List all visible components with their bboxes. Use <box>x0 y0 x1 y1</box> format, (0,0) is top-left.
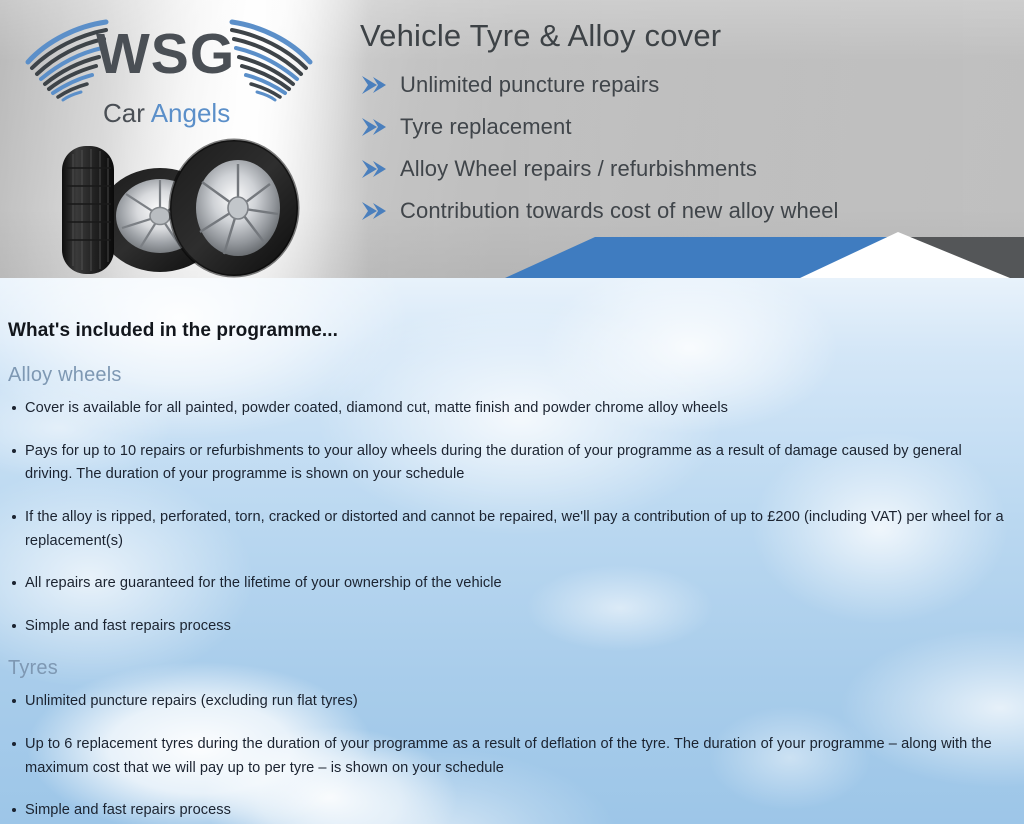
logo-wordmark: WSG <box>96 26 235 83</box>
logo-subtitle: Car Angels <box>103 100 230 126</box>
list-item: Cover is available for all painted, powd… <box>8 397 1010 421</box>
feature-item: Tyre replacement <box>360 108 839 145</box>
main-content: What's included in the programme... Allo… <box>0 278 1024 824</box>
list-item: If the alloy is ripped, perforated, torn… <box>8 506 1010 553</box>
section-title: Alloy wheels <box>8 364 1010 387</box>
feature-label: Alloy Wheel repairs / refurbishments <box>400 156 757 182</box>
chevron-right-icon <box>360 158 390 180</box>
feature-label: Tyre replacement <box>400 114 572 140</box>
list-item: Simple and fast repairs process <box>8 615 1010 639</box>
chevron-right-icon <box>360 116 390 138</box>
logo-subtitle-angels: Angels <box>151 98 231 128</box>
section-tyres: Tyres Unlimited puncture repairs (exclud… <box>8 657 1010 823</box>
feature-item: Alloy Wheel repairs / refurbishments <box>360 150 839 187</box>
feature-item: Unlimited puncture repairs <box>360 66 839 103</box>
page-title: Vehicle Tyre & Alloy cover <box>360 18 839 54</box>
list-item: Pays for up to 10 repairs or refurbishme… <box>8 440 1010 487</box>
header-copy: Vehicle Tyre & Alloy cover Unlimited pun… <box>360 18 839 234</box>
alloy-wheels-bullet-list: Cover is available for all painted, powd… <box>8 397 1010 638</box>
content-heading: What's included in the programme... <box>8 320 1010 342</box>
chevron-right-icon <box>360 74 390 96</box>
logo-subtitle-car: Car <box>103 98 145 128</box>
feature-label: Unlimited puncture repairs <box>400 72 659 98</box>
header-banner: WSG Car Angels <box>0 0 1024 278</box>
section-alloy-wheels: Alloy wheels Cover is available for all … <box>8 364 1010 638</box>
tyres-bullet-list: Unlimited puncture repairs (excluding ru… <box>8 690 1010 823</box>
list-item: Simple and fast repairs process <box>8 799 1010 823</box>
angel-wings-icon-mirrored <box>228 16 320 102</box>
list-item: Up to 6 replacement tyres during the dur… <box>8 733 1010 780</box>
banner-angled-shapes <box>0 210 1024 278</box>
page-root: WSG Car Angels <box>0 0 1024 824</box>
list-item: Unlimited puncture repairs (excluding ru… <box>8 690 1010 714</box>
list-item: All repairs are guaranteed for the lifet… <box>8 572 1010 596</box>
section-title: Tyres <box>8 657 1010 680</box>
